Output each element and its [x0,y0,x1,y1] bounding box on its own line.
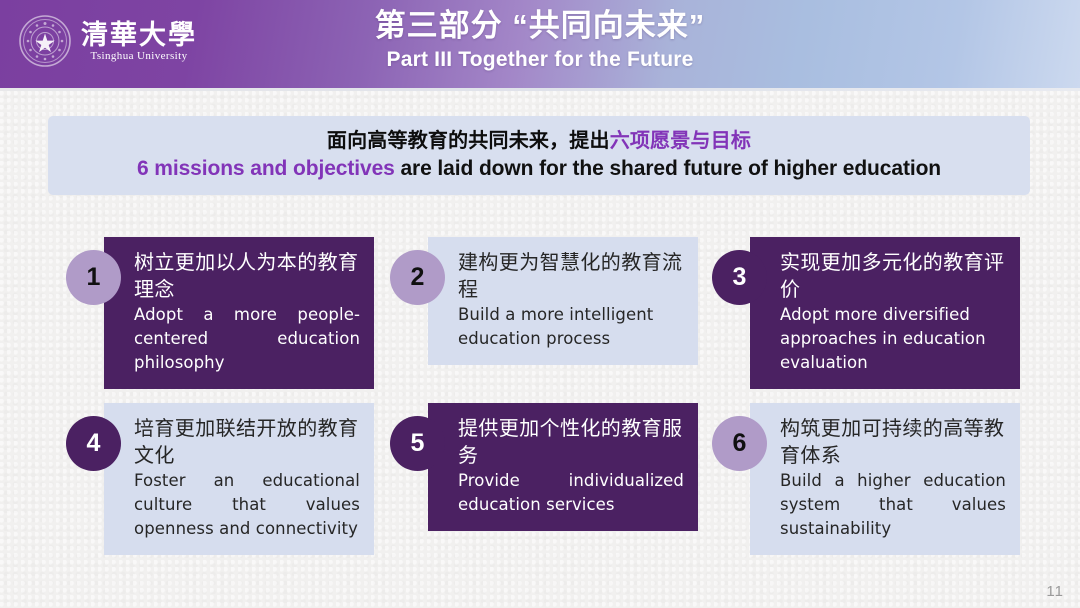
mission-text-en-2: Build a more intelligent education proce… [458,303,684,351]
mission-panel-1: 树立更加以人为本的教育理念 Adopt a more people-center… [104,237,374,389]
summary-banner: 面向高等教育的共同未来，提出六项愿景与目标 6 missions and obj… [48,116,1030,195]
banner-en-accent: 6 missions and objectives [137,157,395,180]
mission-text-cn-2: 建构更为智慧化的教育流程 [458,249,684,303]
mission-text-en-6: Build a higher education system that val… [780,469,1006,541]
mission-card-5[interactable]: 5 提供更加个性化的教育服务 Provide individualized ed… [390,403,698,531]
mission-text-cn-1: 树立更加以人为本的教育理念 [134,249,360,303]
banner-text-en: 6 missions and objectives are laid down … [137,155,941,183]
slide-header: 清華大學 Tsinghua University 第三部分 “共同向未来” Pa… [0,0,1080,88]
logo-wordmark: 清華大學 Tsinghua University [81,20,197,63]
mission-badge-4: 4 [66,416,121,471]
tsinghua-logo: 清華大學 Tsinghua University [18,14,197,68]
mission-text-cn-3: 实现更加多元化的教育评价 [780,249,1006,303]
mission-text-en-4: Foster an educational culture that value… [134,469,360,541]
tsinghua-seal-icon [18,14,72,68]
banner-cn-accent: 六项愿景与目标 [610,130,751,152]
logo-name-en: Tsinghua University [91,50,188,63]
logo-name-cn: 清華大學 [81,20,197,50]
slide-canvas: 清華大學 Tsinghua University 第三部分 “共同向未来” Pa… [0,0,1080,608]
mission-badge-2: 2 [390,250,445,305]
mission-text-en-5: Provide individualized education service… [458,469,684,517]
mission-badge-1: 1 [66,250,121,305]
mission-text-en-1: Adopt a more people-centered education p… [134,303,360,375]
header-divider [0,88,1080,91]
mission-card-2[interactable]: 2 建构更为智慧化的教育流程 Build a more intelligent … [390,237,698,365]
mission-card-1[interactable]: 1 树立更加以人为本的教育理念 Adopt a more people-cent… [66,237,374,389]
banner-en-rest: are laid down for the shared future of h… [395,157,941,180]
banner-cn-prefix: 面向高等教育的共同未来，提出 [327,130,610,152]
mission-panel-3: 实现更加多元化的教育评价 Adopt more diversified appr… [750,237,1020,389]
mission-text-cn-4: 培育更加联结开放的教育文化 [134,415,360,469]
mission-panel-4: 培育更加联结开放的教育文化 Foster an educational cult… [104,403,374,555]
mission-badge-6: 6 [712,416,767,471]
mission-badge-3: 3 [712,250,767,305]
mission-card-4[interactable]: 4 培育更加联结开放的教育文化 Foster an educational cu… [66,403,374,555]
mission-text-en-3: Adopt more diversified approaches in edu… [780,303,1006,375]
mission-panel-2: 建构更为智慧化的教育流程 Build a more intelligent ed… [428,237,698,365]
mission-panel-6: 构筑更加可持续的高等教育体系 Build a higher education … [750,403,1020,555]
mission-text-cn-5: 提供更加个性化的教育服务 [458,415,684,469]
mission-panel-5: 提供更加个性化的教育服务 Provide individualized educ… [428,403,698,531]
banner-text-cn: 面向高等教育的共同未来，提出六项愿景与目标 [327,128,751,155]
mission-badge-5: 5 [390,416,445,471]
mission-card-6[interactable]: 6 构筑更加可持续的高等教育体系 Build a higher educatio… [712,403,1020,555]
mission-text-cn-6: 构筑更加可持续的高等教育体系 [780,415,1006,469]
mission-card-3[interactable]: 3 实现更加多元化的教育评价 Adopt more diversified ap… [712,237,1020,389]
page-number: 11 [1046,583,1064,600]
